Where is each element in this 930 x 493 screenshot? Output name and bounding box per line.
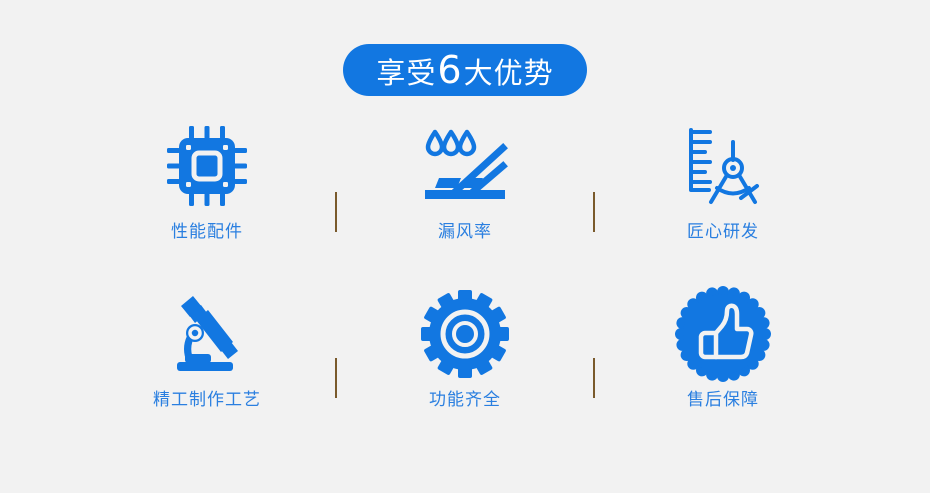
microscope-icon [161,280,253,388]
badge-number: 6 [437,51,462,89]
thumbs-up-badge-icon [674,280,772,388]
ruler-compass-icon [677,112,769,220]
advantages-badge: 享受6大优势 [343,44,587,96]
advantages-badge-text: 享受6大优势 [376,51,553,89]
feature-label: 售后保障 [687,392,759,409]
feature-label: 漏风率 [438,224,492,241]
badge-prefix: 享受 [376,59,436,88]
feature-cell-rnd[interactable]: 匠心研发 [595,112,851,241]
feature-cell-performance-parts[interactable]: 性能配件 [79,112,335,241]
feature-label: 匠心研发 [687,224,759,241]
feature-cell-craftsmanship[interactable]: 精工制作工艺 [79,280,335,409]
feature-grid: 性能配件 [0,112,930,448]
feature-label: 精工制作工艺 [153,392,261,409]
feature-cell-full-function[interactable]: 功能齐全 [337,280,593,409]
feature-cell-air-leakage[interactable]: 漏风率 [337,112,593,241]
cpu-chip-icon [161,112,253,220]
badge-suffix: 大优势 [464,59,554,88]
header: 享受6大优势 [0,44,930,96]
feature-cell-after-sales[interactable]: 售后保障 [595,280,851,409]
promo-feature-panel: 享受6大优势 [0,0,930,493]
water-droplets-leak-icon [417,112,513,220]
feature-label: 性能配件 [171,224,243,241]
gear-cog-icon [419,280,511,388]
feature-row-2: 精工制作工艺 [0,280,930,448]
feature-row-1: 性能配件 [0,112,930,280]
feature-label: 功能齐全 [429,392,501,409]
